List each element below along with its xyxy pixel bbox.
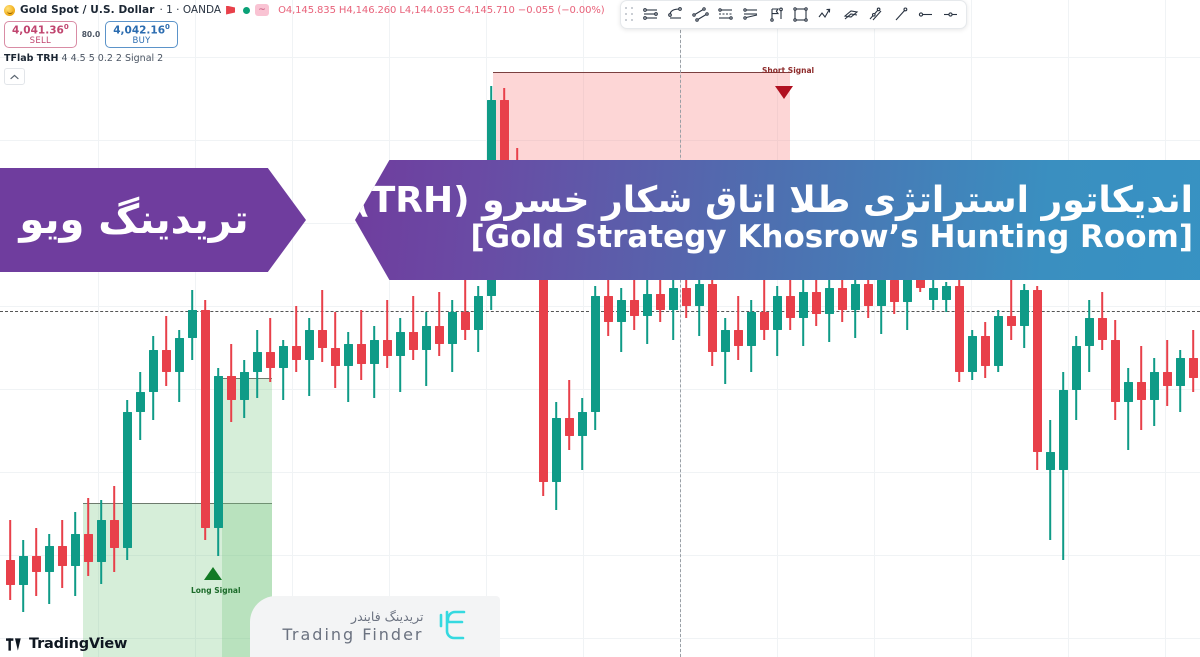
sell-button[interactable]: 4,041.360 SELL (4, 21, 77, 48)
candle-body (578, 412, 587, 436)
candle-body (591, 296, 600, 412)
candle-body (734, 330, 743, 346)
candle-body (552, 418, 561, 482)
candlestick (734, 296, 743, 360)
candle-body (747, 312, 756, 346)
candlestick (162, 316, 171, 386)
candlestick (461, 274, 470, 340)
candle-body (136, 392, 145, 412)
candle-wick (1127, 368, 1129, 450)
candlestick (617, 288, 626, 352)
candlestick (929, 278, 938, 310)
candle-body (565, 418, 574, 436)
trading-finder-watermark: تریدینگ فایندر Trading Finder (250, 596, 500, 657)
candle-body (695, 284, 704, 306)
candle-wick (412, 296, 414, 360)
candlestick (955, 280, 964, 382)
title-banner: اندیکاتور استراتژی طلا اتاق شکار خسرو (T… (355, 160, 1200, 280)
rectangle-icon[interactable] (788, 3, 812, 27)
candle-wick (568, 380, 570, 450)
candle-body (344, 344, 353, 366)
candlestick (227, 344, 236, 422)
candlestick (149, 336, 158, 420)
chart-legend-panel: Gold Spot / U.S. Dollar · 1 · OANDA ~ O4… (4, 2, 605, 85)
candlestick (669, 276, 678, 340)
candle-body (721, 330, 730, 352)
candle-body (1189, 358, 1198, 378)
gridline-vertical (874, 0, 875, 657)
candlestick (1046, 420, 1055, 540)
candlestick (1176, 350, 1185, 412)
chart-canvas[interactable]: Short Signal Long Signal (0, 0, 1200, 657)
down-triangle-icon (775, 86, 793, 99)
candlestick (331, 312, 340, 388)
candlestick (357, 310, 366, 380)
candlestick (266, 318, 275, 382)
candle-body (331, 348, 340, 366)
candle-body (188, 310, 197, 338)
watermark-text: تریدینگ فایندر Trading Finder (283, 609, 424, 644)
candlestick (279, 340, 288, 400)
watermark-persian: تریدینگ فایندر (283, 609, 424, 624)
candle-body (617, 300, 626, 322)
candle-body (656, 294, 665, 310)
candle-body (19, 556, 28, 585)
candlestick (799, 280, 808, 346)
gridline-vertical (1165, 0, 1166, 657)
candlestick (565, 380, 574, 450)
flag-icon (226, 6, 235, 15)
candle-body (292, 346, 301, 360)
candle-body (825, 288, 834, 314)
candlestick (123, 400, 132, 560)
candle-body (942, 286, 951, 300)
candlestick (474, 286, 483, 352)
candle-body (864, 284, 873, 306)
ohlc-text: O4,145.835 H4,146.260 L4,144.035 C4,145.… (278, 5, 515, 16)
ohlc-change: −0.055 (−0.00%) (518, 5, 605, 16)
candle-body (448, 312, 457, 344)
candle-body (201, 310, 210, 528)
candle-body (1007, 316, 1016, 326)
candlestick (318, 290, 327, 362)
candle-body (32, 556, 41, 572)
candle-body (773, 296, 782, 330)
candle-body (474, 296, 483, 330)
candlestick (136, 372, 145, 440)
candlestick (175, 330, 184, 402)
candle-wick (1049, 420, 1051, 540)
candle-body (1176, 358, 1185, 386)
wave-icon: ~ (255, 4, 269, 16)
spread-value: 80.0 (82, 30, 101, 39)
long-signal-label: Long Signal (191, 586, 241, 595)
candle-body (383, 340, 392, 356)
candlestick (1098, 292, 1107, 350)
candlestick (773, 286, 782, 356)
candle-body (149, 350, 158, 392)
candle-body (97, 520, 106, 562)
candlestick (1150, 358, 1159, 426)
candlestick (916, 286, 925, 292)
candlestick (97, 500, 106, 584)
gold-coin-icon (4, 5, 15, 16)
candle-body (786, 296, 795, 318)
candlestick (84, 498, 93, 576)
candle-body (630, 300, 639, 316)
candlestick (1059, 372, 1068, 560)
candle-body (1046, 452, 1055, 470)
buy-label: BUY (113, 37, 170, 46)
candle-body (409, 332, 418, 350)
candlestick (240, 360, 249, 418)
candle-body (1033, 290, 1042, 452)
flag-mark-icon[interactable] (763, 3, 787, 27)
candlestick (643, 280, 652, 344)
title-english: [Gold Strategy Khosrow’s Hunting Room] (470, 220, 1193, 256)
candlestick (994, 310, 1003, 372)
candlestick (981, 322, 990, 378)
tv-badge-text: تریدینگ ویو (19, 197, 274, 243)
horizontal-line-icon[interactable] (938, 3, 962, 27)
tradingview-logo-text: TradingView (29, 636, 127, 652)
candlestick (968, 330, 977, 380)
pitchfork-icon[interactable] (663, 3, 687, 27)
candle-body (175, 338, 184, 372)
candle-wick (295, 306, 297, 372)
gridline-vertical (971, 0, 972, 657)
candle-body (6, 560, 15, 585)
candlestick (1085, 300, 1094, 372)
candle-body (461, 312, 470, 330)
candlestick (422, 312, 431, 386)
tradingview-logo: TradingView (6, 636, 127, 652)
bid-ask-row: 4,041.360 SELL 80.0 4,042.160 BUY (4, 21, 605, 48)
candlestick (721, 318, 730, 384)
candle-body (994, 316, 1003, 366)
candle-body (708, 284, 717, 352)
candle-body (812, 292, 821, 314)
candle-body (890, 280, 899, 302)
candlestick (188, 290, 197, 360)
candle-body (58, 546, 67, 566)
symbol-row[interactable]: Gold Spot / U.S. Dollar · 1 · OANDA ~ O4… (4, 2, 605, 18)
candle-wick (737, 296, 739, 360)
candle-wick (347, 332, 349, 402)
watermark-english: Trading Finder (283, 625, 424, 644)
candle-body (1098, 318, 1107, 340)
double-point-line-icon[interactable] (863, 3, 887, 27)
candle-body (45, 546, 54, 572)
candle-body (1059, 390, 1068, 470)
candlestick (1033, 286, 1042, 470)
candlestick (45, 534, 54, 604)
candle-body (1163, 372, 1172, 386)
candle-body (162, 350, 171, 372)
tradingview-logo-icon (6, 638, 24, 651)
candle-body (981, 336, 990, 366)
candlestick (201, 300, 210, 540)
candlestick (1007, 278, 1016, 340)
trend-line-group-icon[interactable] (638, 3, 662, 27)
candlestick (370, 326, 379, 398)
candle-wick (438, 292, 440, 356)
candle-wick (269, 318, 271, 382)
indicator-name: TFlab TRH (4, 53, 59, 64)
candlestick (552, 402, 561, 510)
parallel-channel-icon[interactable] (688, 3, 712, 27)
candle-wick (464, 274, 466, 340)
candle-body (435, 326, 444, 344)
zigzag-arrow-icon[interactable] (813, 3, 837, 27)
candlestick (747, 300, 756, 372)
candlestick (383, 300, 392, 368)
candle-body (643, 294, 652, 316)
horizontal-ray-icon[interactable] (913, 3, 937, 27)
sell-label: SELL (12, 37, 69, 46)
title-persian: اندیکاتور استراتژی طلا اتاق شکار خسرو (T… (354, 180, 1193, 222)
candle-body (1085, 318, 1094, 346)
buy-button[interactable]: 4,042.160 BUY (105, 21, 178, 48)
candle-body (227, 376, 236, 400)
candle-body (71, 534, 80, 566)
candle-wick (1010, 278, 1012, 340)
symbol-meta: · 1 · OANDA (159, 4, 221, 16)
candlestick (71, 512, 80, 596)
candle-body (851, 284, 860, 310)
candle-body (110, 520, 119, 548)
chevron-up-icon[interactable] (4, 68, 25, 85)
candle-body (396, 332, 405, 356)
sell-price: 4,041.360 (12, 24, 69, 37)
candle-body (669, 288, 678, 310)
candle-body (968, 336, 977, 372)
market-open-dot-icon (243, 7, 250, 14)
short-signal-label: Short Signal (762, 66, 814, 75)
drag-grip-icon[interactable] (625, 7, 635, 23)
candlestick (58, 520, 67, 588)
symbol-name[interactable]: Gold Spot / U.S. Dollar (20, 4, 154, 16)
fib-retracement-icon[interactable] (713, 3, 737, 27)
candlestick (1111, 320, 1120, 420)
candle-body (422, 326, 431, 350)
candle-body (838, 288, 847, 310)
candle-body (305, 330, 314, 360)
ohlc-values: O4,145.835 H4,146.260 L4,144.035 C4,145.… (278, 5, 605, 16)
indicator-legend-row[interactable]: TFlab TRH 4 4.5 5 0.2 2 Signal 2 (4, 53, 605, 64)
candlestick (19, 540, 28, 612)
candle-body (1020, 290, 1029, 326)
candle-body (318, 330, 327, 348)
candle-body (1111, 340, 1120, 402)
candle-body (1150, 372, 1159, 400)
candlestick (1163, 340, 1172, 406)
candlestick (32, 528, 41, 596)
candle-body (253, 352, 262, 372)
candlestick (214, 368, 223, 556)
gridline-vertical (1068, 0, 1069, 657)
candlestick (1124, 368, 1133, 450)
candlestick (435, 292, 444, 356)
indicator-params: 4 4.5 5 0.2 2 Signal 2 (62, 53, 164, 64)
candlestick (396, 318, 405, 392)
candle-body (1124, 382, 1133, 402)
candle-body (1137, 382, 1146, 400)
candlestick (591, 286, 600, 430)
tradingview-persian-badge: تریدینگ ویو (0, 168, 306, 272)
candle-wick (321, 290, 323, 362)
candle-wick (386, 300, 388, 368)
candlestick (539, 290, 548, 496)
candlestick (110, 486, 119, 572)
candlestick (1020, 284, 1029, 348)
candle-body (1072, 346, 1081, 390)
candlestick (305, 318, 314, 396)
candlestick (448, 300, 457, 372)
candle-body (799, 292, 808, 318)
buy-price: 4,042.160 (113, 24, 170, 37)
candlestick (253, 330, 262, 398)
candlestick (942, 282, 951, 312)
gridline-horizontal (0, 472, 1200, 473)
candle-body (240, 372, 249, 400)
candle-body (500, 100, 509, 166)
candlestick (409, 296, 418, 360)
candlestick (578, 398, 587, 470)
candle-body (604, 296, 613, 322)
candlestick (1137, 346, 1146, 430)
ray-line-icon[interactable] (888, 3, 912, 27)
candlestick (825, 276, 834, 342)
candlestick (1189, 330, 1198, 392)
candlestick (851, 272, 860, 338)
candle-body (682, 288, 691, 306)
drawing-tools-toolbar[interactable] (620, 0, 967, 29)
candlestick (6, 520, 15, 600)
candle-body (266, 352, 275, 368)
candlestick (695, 274, 704, 336)
candle-body (84, 534, 93, 562)
candle-body (955, 286, 964, 372)
candle-body (214, 376, 223, 528)
candle-body (929, 288, 938, 300)
candle-body (370, 340, 379, 364)
candlestick (1072, 336, 1081, 420)
trading-finder-logo-icon (434, 609, 468, 645)
candle-body (123, 412, 132, 548)
session-divider (680, 0, 681, 657)
candlestick (344, 332, 353, 402)
candlestick (760, 272, 769, 340)
candle-body (760, 312, 769, 330)
candle-body (877, 280, 886, 306)
candle-body (279, 346, 288, 368)
gann-fan-icon[interactable] (738, 3, 762, 27)
up-triangle-icon (204, 567, 222, 580)
candlestick (292, 306, 301, 372)
parallelogram-3d-icon[interactable] (838, 3, 862, 27)
candle-body (357, 344, 366, 364)
